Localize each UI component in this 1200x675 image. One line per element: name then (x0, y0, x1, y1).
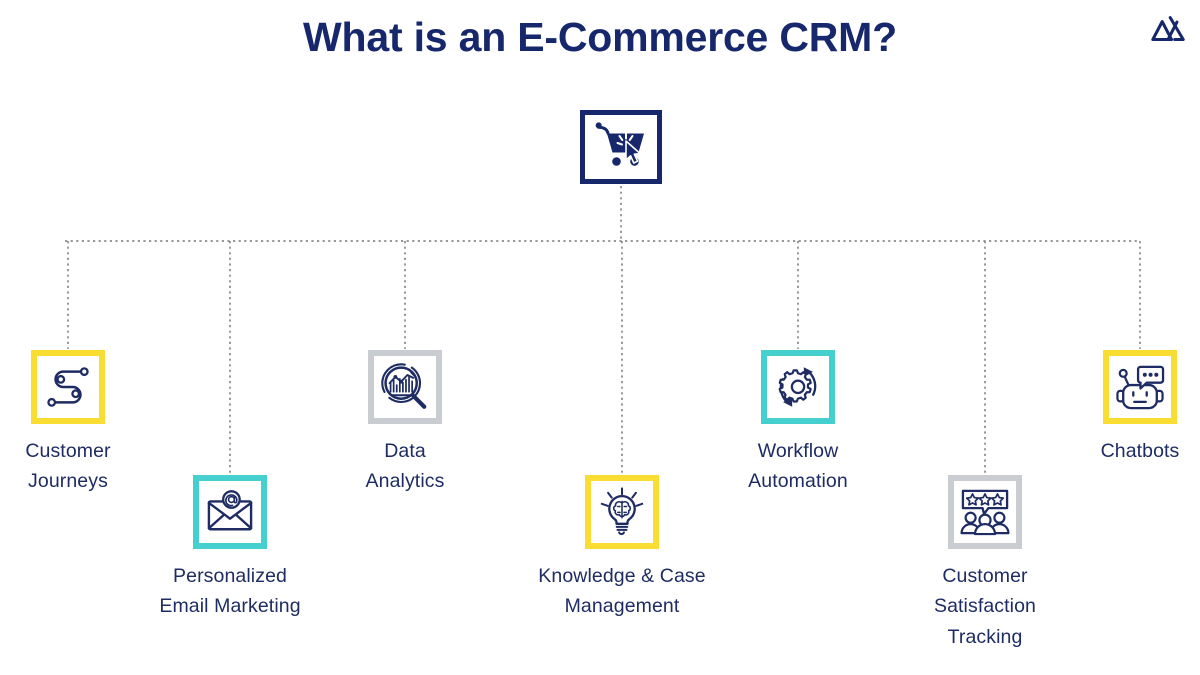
icon-box-customer-satisfaction-tracking[interactable] (948, 475, 1022, 549)
icon-box-data-analytics[interactable] (368, 350, 442, 424)
node-knowledge-case-management[interactable]: Knowledge & Case Management (532, 475, 712, 622)
envelope-at-icon (204, 489, 256, 535)
icon-box-customer-journeys[interactable] (31, 350, 105, 424)
node-label-workflow-automation: Workflow Automation (708, 436, 888, 497)
icon-box-knowledge-case-management[interactable] (585, 475, 659, 549)
node-chatbots[interactable]: Chatbots (1050, 350, 1200, 466)
node-label-knowledge-case-management: Knowledge & Case Management (532, 561, 712, 622)
icon-box-personalized-email-marketing[interactable] (193, 475, 267, 549)
journey-path-icon (43, 364, 93, 410)
node-label-chatbots: Chatbots (1050, 436, 1200, 466)
node-label-personalized-email-marketing: Personalized Email Marketing (140, 561, 320, 622)
node-customer-satisfaction-tracking[interactable]: Customer Satisfaction Tracking (895, 475, 1075, 652)
shopping-cart-click-icon (593, 122, 649, 172)
node-personalized-email-marketing[interactable]: Personalized Email Marketing (140, 475, 320, 622)
node-label-data-analytics: Data Analytics (315, 436, 495, 497)
node-label-customer-satisfaction-tracking: Customer Satisfaction Tracking (895, 561, 1075, 652)
people-stars-rating-icon (958, 488, 1012, 536)
icon-box-workflow-automation[interactable] (761, 350, 835, 424)
icon-box-chatbots[interactable] (1103, 350, 1177, 424)
node-data-analytics[interactable]: Data Analytics (315, 350, 495, 497)
mountain-logo (1150, 10, 1186, 44)
node-label-customer-journeys: Customer Journeys (0, 436, 158, 497)
gear-refresh-icon (772, 362, 824, 412)
lightbulb-brain-icon (596, 487, 648, 537)
page-title: What is an E-Commerce CRM? (0, 12, 1200, 63)
node-workflow-automation[interactable]: Workflow Automation (708, 350, 888, 497)
magnifier-bar-chart-icon (379, 362, 431, 412)
infographic-canvas: What is an E-Commerce CRM? (0, 0, 1200, 675)
root-node-ecommerce-cart[interactable] (580, 110, 662, 184)
node-customer-journeys[interactable]: Customer Journeys (0, 350, 158, 497)
robot-chat-icon (1114, 363, 1166, 411)
